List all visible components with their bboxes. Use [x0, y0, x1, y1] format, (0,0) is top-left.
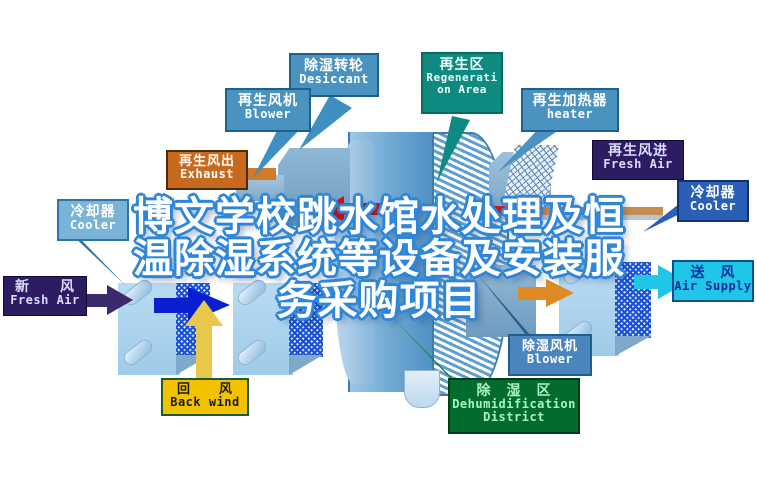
label-fresh-air-in[interactable]: 新 风 Fresh Air	[3, 276, 87, 316]
label-regeneration-fresh-air-in-en: Fresh Air	[593, 158, 683, 171]
label-dehumidification-district-en2: District	[450, 411, 578, 424]
label-regeneration-area-en2: on Area	[423, 84, 501, 96]
label-dehumidification-blower-cn: 除湿风机	[510, 339, 590, 353]
label-air-supply[interactable]: 送 风 Air Supply	[672, 260, 754, 302]
label-exhaust-en: Exhaust	[168, 168, 246, 181]
label-back-wind-en: Back wind	[163, 396, 247, 409]
label-air-supply-en: Air Supply	[674, 280, 752, 293]
label-regeneration-heater-en: heater	[523, 108, 617, 121]
overlay-title-line-1: 博文学校跳水馆水处理及恒	[96, 196, 662, 238]
label-regeneration-heater-cn: 再生加热器	[523, 93, 617, 108]
label-cooler-right[interactable]: 冷却器 Cooler	[677, 180, 749, 222]
label-fresh-air-in-en: Fresh Air	[4, 294, 86, 307]
label-dehumidification-district-cn: 除 湿 区	[450, 383, 578, 398]
label-regeneration-fresh-air-in[interactable]: 再生风进 Fresh Air	[592, 140, 684, 180]
overlay-title: 博文学校跳水馆水处理及恒 温除湿系统等设备及安装服 务采购项目	[96, 196, 662, 322]
label-dehumidification-district[interactable]: 除 湿 区 Dehumidification District	[448, 378, 580, 434]
label-regeneration-area[interactable]: 再生区 Regenerati on Area	[421, 52, 503, 114]
label-desiccant-wheel-en: Desiccant	[291, 73, 377, 86]
label-dehumidification-blower[interactable]: 除湿风机 Blower	[508, 334, 592, 376]
label-regeneration-area-cn: 再生区	[423, 57, 501, 72]
label-air-supply-cn: 送 风	[674, 265, 752, 280]
label-regeneration-blower-cn: 再生风机	[227, 93, 309, 108]
label-regeneration-fresh-air-in-cn: 再生风进	[593, 143, 683, 158]
label-fresh-air-in-cn: 新 风	[4, 279, 86, 294]
label-exhaust-cn: 再生风出	[168, 154, 246, 168]
label-dehumidification-blower-en: Blower	[510, 353, 590, 366]
label-regeneration-blower-en: Blower	[227, 108, 309, 121]
label-regeneration-blower[interactable]: 再生风机 Blower	[225, 88, 311, 132]
label-exhaust[interactable]: 再生风出 Exhaust	[166, 150, 248, 190]
label-desiccant-wheel-cn: 除湿转轮	[291, 58, 377, 73]
label-cooler-right-en: Cooler	[679, 200, 747, 213]
label-back-wind-cn: 回 风	[163, 382, 247, 396]
overlay-title-line-3: 务采购项目	[96, 280, 662, 322]
schematic-canvas: 除湿转轮 Desiccant 再生风机 Blower 再生区 Regenerat…	[0, 0, 757, 488]
label-cooler-right-cn: 冷却器	[679, 185, 747, 200]
label-back-wind[interactable]: 回 风 Back wind	[161, 378, 249, 416]
overlay-title-line-2: 温除湿系统等设备及安装服	[96, 238, 662, 280]
label-regeneration-heater[interactable]: 再生加热器 heater	[521, 88, 619, 132]
